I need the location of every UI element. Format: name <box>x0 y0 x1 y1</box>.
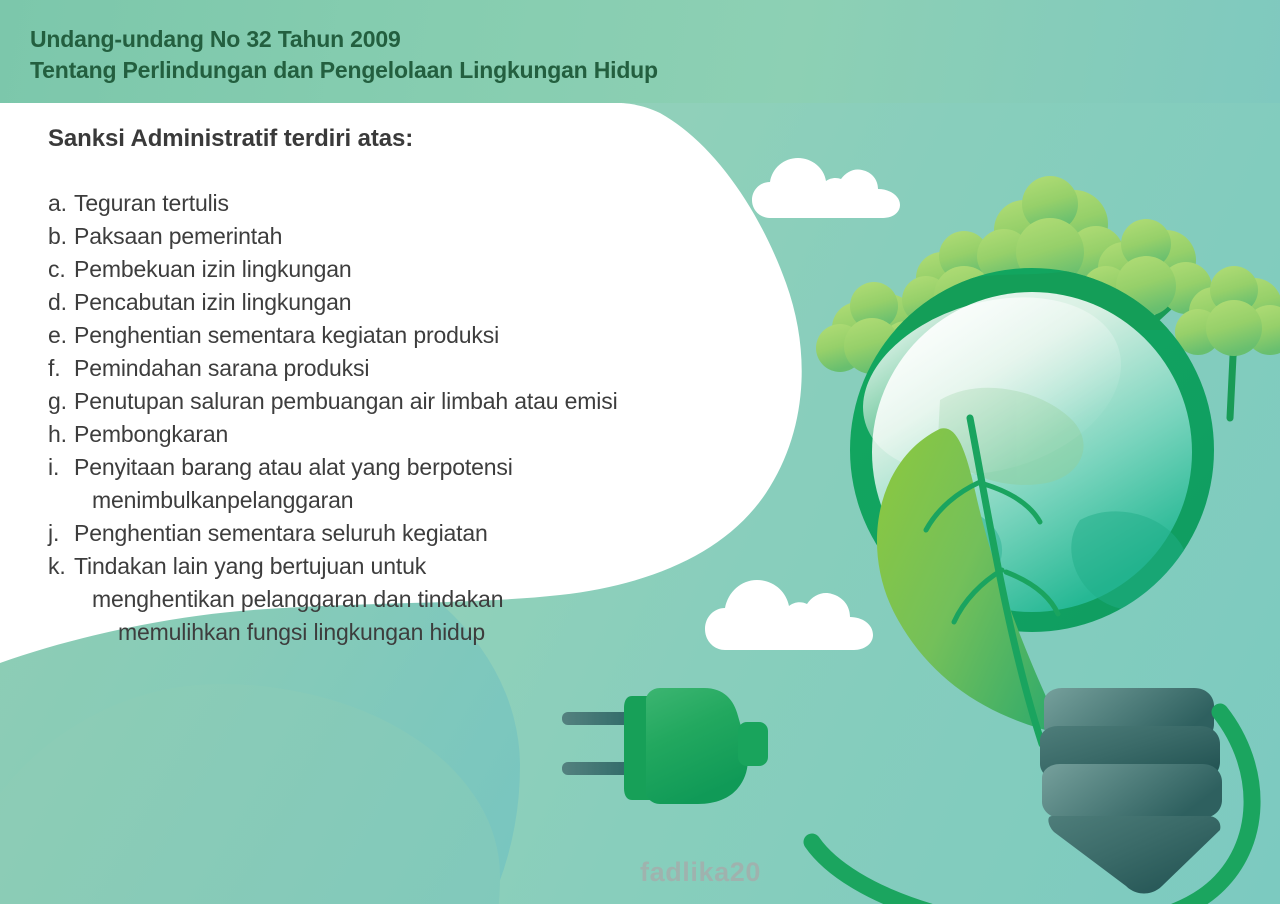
list-item-text: Pemindahan sarana produksi <box>74 352 728 385</box>
list-item-continuation: memulihkan fungsi lingkungan hidup <box>74 616 728 649</box>
list-item: j.Penghentian sementara seluruh kegiatan <box>48 517 728 550</box>
list-item-continuation: menimbulkanpelanggaran <box>74 484 728 517</box>
plug-prong <box>562 762 634 775</box>
poster-root: Undang-undang No 32 Tahun 2009 Tentang P… <box>0 0 1280 904</box>
list-item-marker: f. <box>48 352 74 385</box>
list-item: c.Pembekuan izin lingkungan <box>48 253 728 286</box>
list-item: e.Penghentian sementara kegiatan produks… <box>48 319 728 352</box>
bulb-base <box>1040 688 1222 894</box>
list-item: f.Pemindahan sarana produksi <box>48 352 728 385</box>
list-item-line: Penyitaan barang atau alat yang berpoten… <box>74 454 513 480</box>
list-item-marker: k. <box>48 550 74 583</box>
list-item-line: Paksaan pemerintah <box>74 223 282 249</box>
list-item-marker: j. <box>48 517 74 550</box>
list-item-line: Penghentian sementara seluruh kegiatan <box>74 520 488 546</box>
list-item-text: Pencabutan izin lingkungan <box>74 286 728 319</box>
list-item-marker: g. <box>48 385 74 418</box>
sanksi-list: a.Teguran tertulisb.Paksaan pemerintahc.… <box>48 187 728 649</box>
content-text-column: Sanksi Administratif terdiri atas: a.Teg… <box>48 125 728 649</box>
list-item-marker: c. <box>48 253 74 286</box>
list-item: k.Tindakan lain yang bertujuan untukmeng… <box>48 550 728 649</box>
watermark: fadlika20 <box>640 857 761 888</box>
list-item: h.Pembongkaran <box>48 418 728 451</box>
section-title: Sanksi Administratif terdiri atas: <box>48 125 728 153</box>
list-item-text: Teguran tertulis <box>74 187 728 220</box>
header-title-line2: Tentang Perlindungan dan Pengelolaan Lin… <box>30 57 658 84</box>
list-item-marker: i. <box>48 451 74 484</box>
poster-header: Undang-undang No 32 Tahun 2009 Tentang P… <box>0 0 1280 103</box>
list-item-marker: d. <box>48 286 74 319</box>
plug-prong <box>562 712 634 725</box>
list-item-marker: h. <box>48 418 74 451</box>
list-item-line: Penutupan saluran pembuangan air limbah … <box>74 388 618 414</box>
list-item-line: Pencabutan izin lingkungan <box>74 289 351 315</box>
list-item-text: Pembongkaran <box>74 418 728 451</box>
list-item-text: Pembekuan izin lingkungan <box>74 253 728 286</box>
header-title-line1: Undang-undang No 32 Tahun 2009 <box>30 26 401 53</box>
list-item-line: Penghentian sementara kegiatan produksi <box>74 322 499 348</box>
list-item-line: Pembekuan izin lingkungan <box>74 256 352 282</box>
list-item-text: Penghentian sementara seluruh kegiatan <box>74 517 728 550</box>
list-item-continuation: menghentikan pelanggaran dan tindakan <box>74 583 728 616</box>
list-item-line: Pembongkaran <box>74 421 228 447</box>
list-item-line: Pemindahan sarana produksi <box>74 355 369 381</box>
electric-plug <box>562 688 768 804</box>
list-item-text: Penutupan saluran pembuangan air limbah … <box>74 385 728 418</box>
list-item: g.Penutupan saluran pembuangan air limba… <box>48 385 728 418</box>
list-item-line: Teguran tertulis <box>74 190 229 216</box>
list-item-marker: a. <box>48 187 74 220</box>
list-item-text: Paksaan pemerintah <box>74 220 728 253</box>
list-item-marker: e. <box>48 319 74 352</box>
list-item-text: Penyitaan barang atau alat yang berpoten… <box>74 451 728 517</box>
list-item-marker: b. <box>48 220 74 253</box>
list-item: i.Penyitaan barang atau alat yang berpot… <box>48 451 728 517</box>
list-item-line: Tindakan lain yang bertujuan untuk <box>74 553 426 579</box>
list-item: b.Paksaan pemerintah <box>48 220 728 253</box>
list-item-text: Penghentian sementara kegiatan produksi <box>74 319 728 352</box>
plug-body <box>646 688 748 804</box>
plug-collar <box>738 722 768 766</box>
list-item: d.Pencabutan izin lingkungan <box>48 286 728 319</box>
list-item: a.Teguran tertulis <box>48 187 728 220</box>
list-item-text: Tindakan lain yang bertujuan untukmenghe… <box>74 550 728 649</box>
